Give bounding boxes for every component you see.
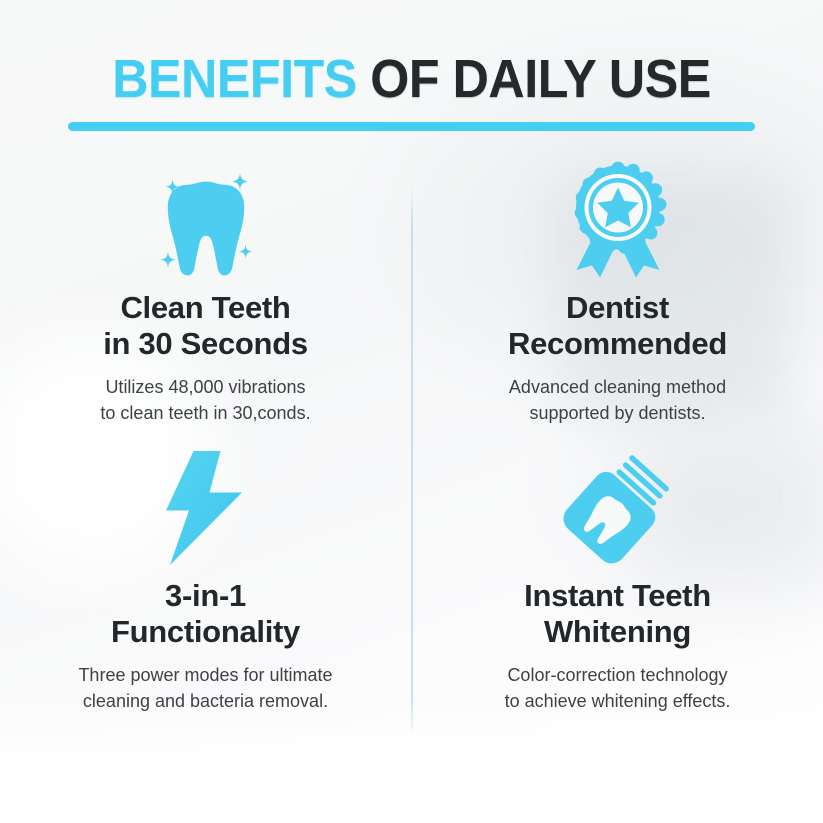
benefits-infographic: BENEFITS OF DAILY USE Clean Teeth in 30 … [0,0,823,823]
title-underline-rule [68,122,755,131]
award-ribbon-icon [412,160,823,280]
benefit-title: Dentist Recommended [412,290,823,363]
page-title-rest: OF DAILY USE [357,49,711,109]
benefit-item-dentist-recommended: Dentist Recommended Advanced cleaning me… [412,160,823,426]
benefit-title: 3-in-1 Functionality [0,578,411,651]
lightning-bolt-icon [0,448,411,568]
benefit-description: Three power modes for ultimate cleaning … [0,662,411,714]
page-title: BENEFITS OF DAILY USE [29,52,794,106]
benefits-grid: Clean Teeth in 30 Seconds Utilizes 48,00… [0,160,823,750]
tooth-sparkle-icon [0,160,411,280]
benefit-item-instant-whitening: Instant Teeth Whitening Color-correction… [412,448,823,714]
benefit-description: Utilizes 48,000 vibrations to clean teet… [0,374,411,426]
benefit-title: Instant Teeth Whitening [412,578,823,651]
benefit-title: Clean Teeth in 30 Seconds [0,290,411,363]
page-title-accent: BENEFITS [112,49,357,109]
benefit-description: Advanced cleaning method supported by de… [412,374,823,426]
benefit-item-three-in-one: 3-in-1 Functionality Three power modes f… [0,448,411,714]
benefit-item-clean-teeth: Clean Teeth in 30 Seconds Utilizes 48,00… [0,160,411,426]
header: BENEFITS OF DAILY USE [0,52,823,106]
toothpaste-tube-icon [412,448,823,568]
benefit-description: Color-correction technology to achieve w… [412,662,823,714]
